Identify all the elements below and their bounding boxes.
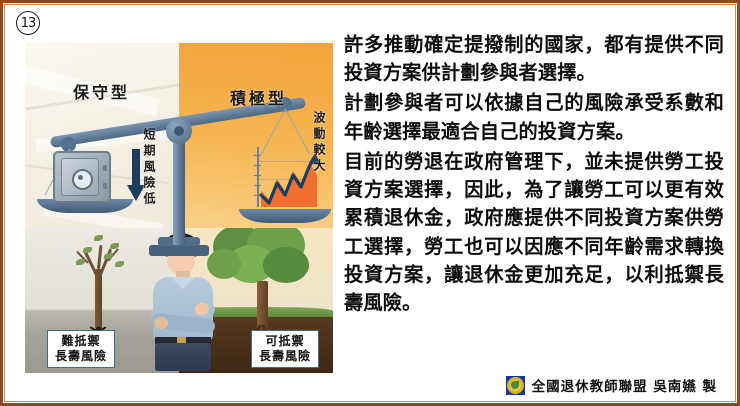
safe-hinge	[103, 183, 107, 189]
box-label-line2: 長壽風險	[259, 349, 311, 364]
slide-frame: 13	[0, 0, 740, 406]
aggressive-label: 積極型	[230, 85, 287, 109]
chart-svg	[253, 145, 321, 211]
can-resist-longevity-risk-box: 可抵禦 長壽風險	[251, 330, 319, 368]
tree-trunk	[257, 281, 268, 329]
hard-to-resist-longevity-risk-box: 難抵禦 長壽風險	[47, 330, 115, 368]
tree-canopy	[263, 247, 309, 283]
tree-leaf	[76, 259, 85, 265]
conservative-label: 保守型	[73, 79, 130, 103]
body-text-block: 許多推動確定提撥制的國家，都有提供不同投資方案供計劃參與者選擇。 計劃參與者可以…	[344, 31, 724, 319]
safe-dial-center	[78, 175, 83, 180]
paragraph-2: 計劃參與者可以依據自己的風險承受系數和年齡選擇最適合自己的投資方案。	[344, 89, 724, 145]
tree-trunk	[95, 269, 102, 329]
scale-pan-right	[239, 209, 331, 223]
safe-hinge	[103, 165, 107, 171]
man-hand	[154, 317, 168, 329]
man-pants	[155, 343, 211, 371]
arrow-stem	[132, 149, 140, 187]
safe-vault-icon	[53, 151, 111, 203]
scale-pillar	[173, 127, 185, 245]
short-term-risk-label: 短期風險低	[143, 128, 155, 208]
box-label-line1: 難抵禦	[55, 334, 107, 349]
footer-credit: 全國退休教師聯盟 吳南嬿 製	[506, 375, 717, 395]
paragraph-1: 許多推動確定提撥制的國家，都有提供不同投資方案供計劃參與者選擇。	[344, 31, 724, 87]
balance-scale-icon	[25, 101, 333, 251]
safe-dial	[72, 169, 93, 190]
scale-base	[149, 245, 209, 256]
illustration-image: 保守型 積極型 短期風險低 波動較大 難抵禦 長壽風險 可抵禦 長壽風險	[25, 43, 333, 373]
scale-fulcrum-center	[174, 126, 184, 136]
box-label-line1: 可抵禦	[259, 334, 311, 349]
footer-credit-text: 全國退休教師聯盟 吳南嬿 製	[532, 375, 717, 395]
zigzag-growth-chart-icon	[253, 145, 321, 211]
emblem-circle	[507, 377, 524, 394]
union-emblem-logo	[506, 376, 525, 395]
volatility-label: 波動較大	[313, 111, 325, 175]
box-label-line2: 長壽風險	[55, 349, 107, 364]
paragraph-3: 目前的勞退在政府管理下，並未提供勞工投資方案選擇，因此，為了讓勞工可以更有效累積…	[344, 148, 724, 317]
page-number-badge: 13	[16, 11, 40, 35]
tree-leaf	[115, 261, 124, 267]
down-arrow-icon	[130, 149, 142, 201]
